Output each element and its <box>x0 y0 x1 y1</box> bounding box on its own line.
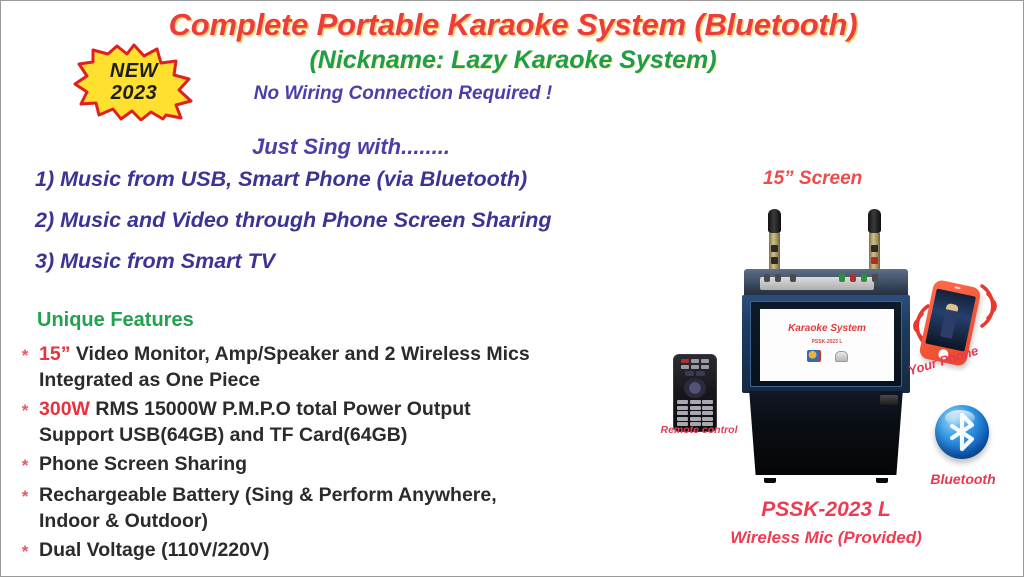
remote-key <box>691 365 699 369</box>
product-model-subtitle: Wireless Mic (Provided) <box>716 528 936 548</box>
brand-logo-icon <box>807 350 821 362</box>
remote-key <box>702 406 713 410</box>
asterisk-icon: * <box>11 451 39 479</box>
control-knob <box>790 274 796 282</box>
feature-text: 15” Video Monitor, Amp/Speaker and 2 Wir… <box>39 341 530 367</box>
remote-keypad <box>677 400 713 426</box>
phone-camera-icon <box>954 286 960 289</box>
page-title: Complete Portable Karaoke System (Blueto… <box>1 7 1024 43</box>
cabinet-foot <box>764 478 776 483</box>
control-knob <box>839 274 845 282</box>
remote-key <box>677 406 688 410</box>
bluetooth-icon <box>935 405 989 459</box>
remote-key <box>701 359 709 363</box>
karaoke-machine: Karaoke System PSSK-2023 L <box>742 269 910 479</box>
screen-model: PSSK-2023 L <box>812 339 843 345</box>
screen-size-label: 15” Screen <box>763 168 862 190</box>
mic-head <box>768 209 781 233</box>
mic-head <box>868 209 881 233</box>
remote-control-label: Remote control <box>651 424 747 436</box>
remote-key <box>702 417 713 421</box>
remote-key <box>690 417 701 421</box>
list-item: 2) Music and Video through Phone Screen … <box>35 208 675 233</box>
list-item: 1) Music from USB, Smart Phone (via Blue… <box>35 167 675 192</box>
monitor-screen: Karaoke System PSSK-2023 L <box>760 309 894 381</box>
phone-screen-figure <box>940 303 959 339</box>
list-item: * Rechargeable Battery (Sing & Perform A… <box>11 482 671 534</box>
remote-key <box>696 371 705 376</box>
list-item: 3) Music from Smart TV <box>35 249 675 274</box>
asterisk-icon: * <box>11 537 39 565</box>
badge-line-year: 2023 <box>111 83 158 103</box>
control-knob <box>861 274 867 282</box>
list-item: * Dual Voltage (110V/220V) <box>11 537 671 565</box>
phone-screen <box>925 289 976 352</box>
remote-key <box>690 411 701 415</box>
signal-waves-right-icon <box>976 276 1008 336</box>
sing-options-list: 1) Music from USB, Smart Phone (via Blue… <box>35 167 675 290</box>
feature-second-line: Support USB(64GB) and TF Card(64GB) <box>39 422 471 448</box>
feature-text: 300W RMS 15000W P.M.P.O total Power Outp… <box>39 396 471 422</box>
remote-key <box>685 371 694 376</box>
feature-second-line: Integrated as One Piece <box>39 367 530 393</box>
feature-highlight: 300W <box>39 398 90 420</box>
bluetooth-label: Bluetooth <box>917 471 1009 487</box>
cabinet-top-panel <box>744 269 908 297</box>
remote-row <box>677 359 713 363</box>
features-list: * 15” Video Monitor, Amp/Speaker and 2 W… <box>11 341 671 568</box>
remote-key <box>690 406 701 410</box>
asterisk-icon: * <box>11 341 39 369</box>
remote-key <box>691 359 699 363</box>
feature-highlight: 15” <box>39 343 70 365</box>
remote-key <box>701 365 709 369</box>
asterisk-icon: * <box>11 396 39 424</box>
product-model-name: PSSK-2023 L <box>716 498 936 522</box>
control-knob <box>764 274 770 282</box>
cabinet-foot <box>876 478 888 483</box>
remote-key <box>681 365 689 369</box>
remote-key <box>690 400 701 404</box>
remote-row <box>677 365 713 369</box>
list-item: * 15” Video Monitor, Amp/Speaker and 2 W… <box>11 341 671 393</box>
mic-button-record <box>871 257 878 264</box>
control-knob <box>850 274 856 282</box>
just-sing-intro: Just Sing with........ <box>151 134 551 160</box>
cabinet-monitor-section: Karaoke System PSSK-2023 L <box>742 295 910 393</box>
control-knob <box>775 274 781 282</box>
new-2023-badge: NEW 2023 <box>73 43 195 121</box>
bluetooth-glyph-icon <box>935 405 989 459</box>
monitor-bezel: Karaoke System PSSK-2023 L <box>750 301 902 387</box>
feature-text: Phone Screen Sharing <box>39 451 247 477</box>
feature-second-line: Indoor & Outdoor) <box>39 508 497 534</box>
remote-control <box>673 354 717 432</box>
screen-icons <box>807 350 848 362</box>
feature-text: Dual Voltage (110V/220V) <box>39 537 270 563</box>
navigation-pad-icon <box>684 378 706 398</box>
remote-key <box>677 411 688 415</box>
power-button-icon <box>681 359 689 363</box>
remote-row <box>677 371 713 376</box>
remote-key <box>677 417 688 421</box>
list-item: * 300W RMS 15000W P.M.P.O total Power Ou… <box>11 396 671 448</box>
remote-key <box>702 400 713 404</box>
remote-key <box>702 411 713 415</box>
remote-key <box>677 400 688 404</box>
mic-button <box>771 257 778 264</box>
screen-title: Karaoke System <box>788 323 866 334</box>
cabinet-badge <box>880 395 898 405</box>
asterisk-icon: * <box>11 482 39 510</box>
tagline: No Wiring Connection Required ! <box>123 83 683 105</box>
feature-text: Rechargeable Battery (Sing & Perform Any… <box>39 482 497 508</box>
speaker-icon <box>835 351 848 362</box>
unique-features-heading: Unique Features <box>37 309 194 332</box>
feature-rest: Video Monitor, Amp/Speaker and 2 Wireles… <box>70 343 529 365</box>
feature-rest: RMS 15000W P.M.P.O total Power Output <box>90 398 471 420</box>
mic-button <box>871 245 878 252</box>
mic-button <box>771 245 778 252</box>
list-item: * Phone Screen Sharing <box>11 451 671 479</box>
control-knob <box>872 274 878 282</box>
poster-canvas: Complete Portable Karaoke System (Blueto… <box>0 0 1024 577</box>
badge-line-new: NEW <box>110 61 158 81</box>
